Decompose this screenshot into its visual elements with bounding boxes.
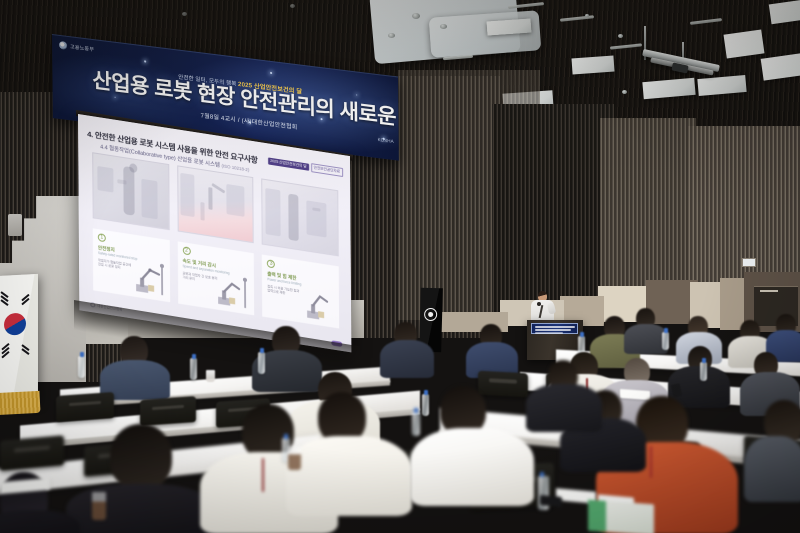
ceiling-panel xyxy=(642,78,695,99)
ceiling-downlight xyxy=(388,33,395,38)
robot-arm-diagram xyxy=(212,271,252,311)
chair[interactable] xyxy=(56,392,114,422)
flag-fringe xyxy=(0,391,41,415)
attendee-torso xyxy=(286,436,412,516)
iced-drink xyxy=(92,492,106,520)
robot-arm-diagram xyxy=(128,258,168,298)
slide-photo xyxy=(262,178,339,256)
slide-tag-1: 2025 산업안전보건의 달 xyxy=(268,157,309,170)
water-bottle xyxy=(412,412,420,436)
ceiling-panel xyxy=(761,53,800,80)
ceiling-downlight xyxy=(412,13,420,19)
paper-cup xyxy=(206,370,215,382)
ceiling-strip xyxy=(560,15,594,22)
slide-panel: 2 속도 및 거리 감시 Speed and separation monito… xyxy=(177,241,254,315)
lanyard xyxy=(262,458,264,492)
water-bottle xyxy=(422,394,429,416)
ceiling-downlight xyxy=(290,4,295,8)
banner-right-logo: KOSHA xyxy=(378,137,394,144)
attendee-torso xyxy=(526,384,602,432)
slide-panel: 3 출력 및 힘 제한 Power and force limiting 접촉 … xyxy=(262,255,339,329)
ministry-logo-mark xyxy=(59,41,67,50)
slide-panel-number: 1 xyxy=(98,233,106,242)
wall-slat-center-3 xyxy=(492,104,614,324)
lanyard xyxy=(650,446,652,478)
attendee-head xyxy=(110,424,172,490)
seminar-room-photo: 고용노동부 안전한 일터, 모두의 행복 2025 산업안전보건의 달 산업용 … xyxy=(0,0,800,533)
handout-bag xyxy=(588,500,654,533)
lectern-sign xyxy=(531,323,578,334)
ceiling-strip xyxy=(610,43,642,49)
ceiling-panel xyxy=(571,56,614,75)
phone[interactable] xyxy=(540,495,562,507)
slide-photo xyxy=(92,152,169,230)
water-bottle xyxy=(78,356,85,378)
attendee-torso xyxy=(410,428,534,506)
chair[interactable] xyxy=(0,435,64,471)
wall-sign xyxy=(742,258,756,267)
attendee-torso xyxy=(744,436,800,502)
ceiling-panel xyxy=(724,29,765,58)
slide-photo xyxy=(177,165,254,243)
ministry-logo-label: 고용노동부 xyxy=(70,43,94,53)
slide-panel-number: 2 xyxy=(182,246,190,255)
organization-emblem-icon xyxy=(424,308,437,321)
ministry-logo: 고용노동부 xyxy=(59,41,94,53)
ceiling-light-slab xyxy=(429,10,542,58)
iced-drink xyxy=(288,446,301,470)
ceiling-panel xyxy=(697,75,746,96)
slide-panel-number: 3 xyxy=(267,259,275,268)
korean-national-flag xyxy=(0,274,38,404)
ceiling-downlight xyxy=(440,24,447,29)
slide-tag-row: 2025 산업안전보건의 달 안전보건공단자료 xyxy=(268,156,343,177)
attendee-torso xyxy=(380,340,434,378)
slide-panel: 1 안전정지 Safety-rated monitored stop 작업자가 … xyxy=(93,228,170,302)
water-bottle xyxy=(662,332,669,350)
wall-speaker-box xyxy=(8,214,22,236)
ceiling-downlight xyxy=(182,12,187,16)
ceiling-downlight xyxy=(618,34,623,38)
attendee-torso xyxy=(66,484,216,533)
slide-standard-note: (ISO 10218-2) xyxy=(221,163,249,172)
ceiling-downlight xyxy=(585,14,589,17)
slide-tag-2: 안전보건공단자료 xyxy=(311,163,344,177)
robot-arm-diagram xyxy=(297,284,337,324)
water-bottle xyxy=(258,352,265,374)
door-handle[interactable] xyxy=(760,290,778,292)
chair[interactable] xyxy=(140,396,196,426)
ceiling-downlight xyxy=(622,90,627,94)
water-bottle xyxy=(700,362,707,381)
ceiling-strip xyxy=(690,18,722,25)
water-bottle xyxy=(190,358,197,380)
chair[interactable] xyxy=(478,371,528,398)
ceiling-panel xyxy=(769,0,800,24)
taeguk-symbol xyxy=(4,313,26,336)
